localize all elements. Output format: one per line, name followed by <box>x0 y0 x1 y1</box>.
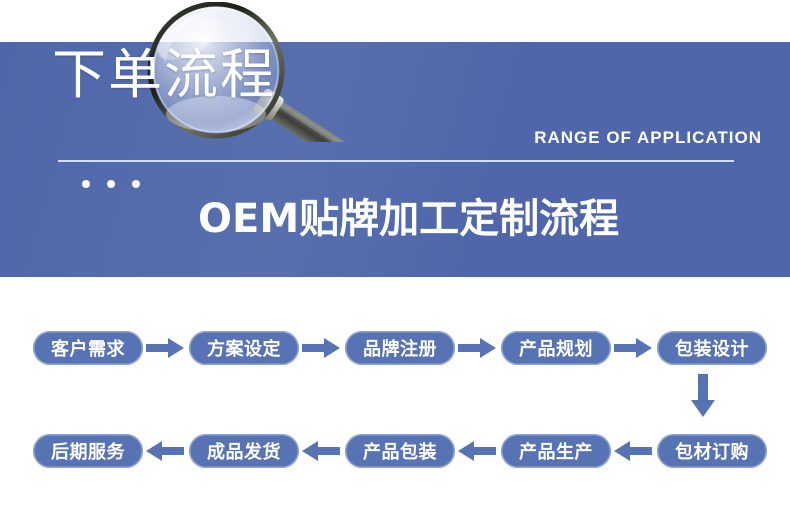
flow-diagram: 客户需求 方案设定 品牌注册 产品规划 包装设计 后期服务 <box>0 277 790 529</box>
header-dots <box>82 180 148 190</box>
header-headline: 下单流程 <box>52 48 276 102</box>
arrow-left-icon <box>299 434 345 468</box>
arrow-left-icon <box>455 434 501 468</box>
flow-step-product-planning[interactable]: 产品规划 <box>501 331 611 365</box>
flow-step-product-packaging[interactable]: 产品包装 <box>345 434 455 468</box>
flow-step-customer-requirement[interactable]: 客户需求 <box>33 331 143 365</box>
arrow-right-icon <box>455 331 501 365</box>
arrow-left-icon <box>143 434 189 468</box>
flow-step-brand-registration[interactable]: 品牌注册 <box>345 331 455 365</box>
flow-row-bottom: 后期服务 成品发货 产品包装 产品生产 包材订购 <box>0 429 790 473</box>
flow-step-plan-setting[interactable]: 方案设定 <box>189 331 299 365</box>
dot-2 <box>107 180 115 188</box>
arrow-left-icon <box>611 434 657 468</box>
arrow-right-icon <box>143 331 189 365</box>
flow-step-finished-goods-shipment[interactable]: 成品发货 <box>189 434 299 468</box>
flow-step-packaging-design[interactable]: 包装设计 <box>657 331 767 365</box>
dot-3 <box>132 180 140 188</box>
flow-step-product-manufacturing[interactable]: 产品生产 <box>501 434 611 468</box>
page-title: OEM贴牌加工定制流程 <box>198 186 619 244</box>
arrow-down-icon <box>690 373 716 419</box>
header-divider <box>58 160 734 162</box>
flow-step-packaging-material-order[interactable]: 包材订购 <box>657 434 767 468</box>
flow-step-after-sales-service[interactable]: 后期服务 <box>33 434 143 468</box>
dot-1 <box>82 180 90 188</box>
poster-canvas: 下单流程 <box>0 0 790 529</box>
arrow-right-icon <box>611 331 657 365</box>
flow-row-top: 客户需求 方案设定 品牌注册 产品规划 包装设计 <box>0 326 790 370</box>
header-eyebrow: RANGE OF APPLICATION <box>534 128 762 148</box>
arrow-right-icon <box>299 331 345 365</box>
